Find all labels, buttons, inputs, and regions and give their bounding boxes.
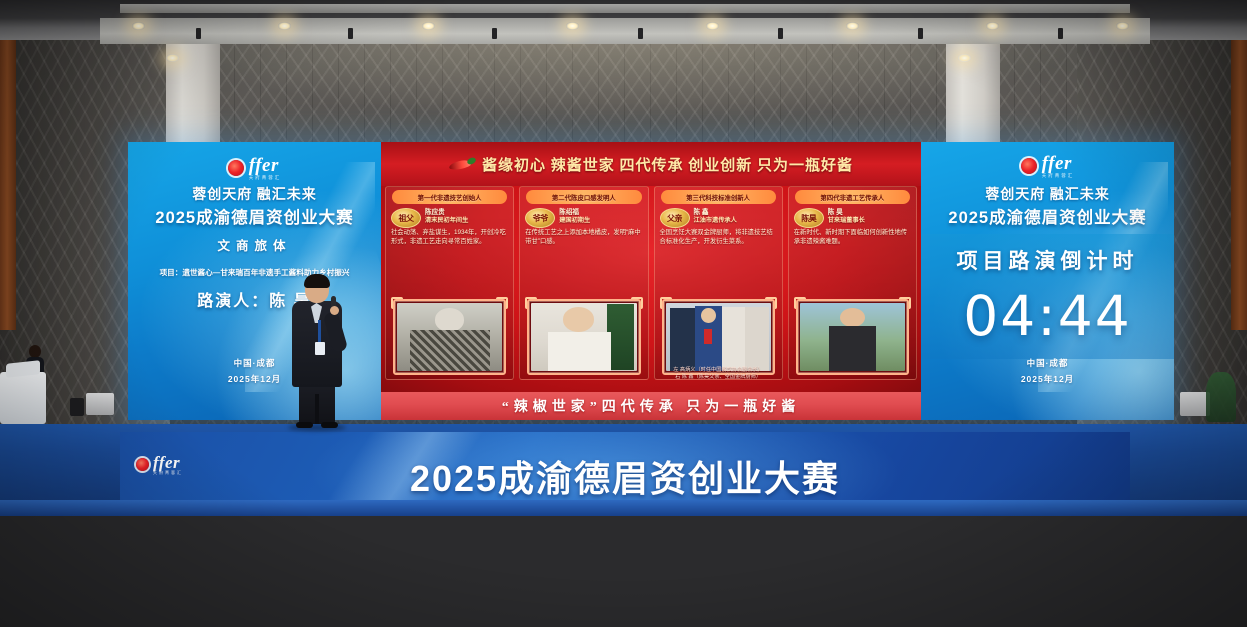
center-slide-header: 酱缘初心 辣酱世家 四代传承 创业创新 只为一瓶好酱 xyxy=(381,142,921,186)
downlight-icon xyxy=(422,22,435,30)
center-header-text: 酱缘初心 辣酱世家 四代传承 创业创新 只为一瓶好酱 xyxy=(482,154,853,175)
generation-column: 第四代非遗工艺传承人 陈昊 陈 昊 甘来瑞董事长 在新时代、新时期下面临如何创新… xyxy=(788,186,917,380)
event-slogan: 蓉创天府 融汇未来 xyxy=(921,184,1174,204)
generation-description: 在新时代、新时期下面临如何创新性地传承非遗辣酱难题。 xyxy=(789,228,916,246)
generation-person: 爷爷 陈绍福 建国初期生 xyxy=(520,206,647,228)
presenter-speaker xyxy=(288,276,346,428)
track-light-icon xyxy=(348,28,353,39)
logo-wordmark: ffer xyxy=(249,156,279,175)
generation-photo-frame xyxy=(393,299,506,375)
generation-column: 第一代非遗技艺创始人 祖父 陈应贵 清末民初年间生 社会动荡、弃盐谋生，1934… xyxy=(385,186,514,380)
event-logo: ffer 天府菁蓉汇 xyxy=(128,156,381,181)
track-light-icon xyxy=(492,28,497,39)
downlight-icon xyxy=(166,54,179,62)
center-slide-footer: “辣椒世家”四代传承 只为一瓶好酱 xyxy=(381,392,921,420)
downlight-icon xyxy=(986,22,999,30)
downlight-icon xyxy=(132,22,145,30)
track-light-icon xyxy=(638,28,643,39)
generation-header: 第四代非遗工艺传承人 xyxy=(795,190,910,204)
event-logo: ffer 天府菁蓉汇 xyxy=(921,154,1174,179)
generations-columns: 第一代非遗技艺创始人 祖父 陈应贵 清末民初年间生 社会动荡、弃盐谋生，1934… xyxy=(385,186,917,380)
generation-person: 祖父 陈应贵 清末民初年间生 xyxy=(386,206,513,228)
portrait-photo xyxy=(397,303,502,371)
generation-seal-badge: 父亲 xyxy=(660,208,690,228)
led-video-wall: ffer 天府菁蓉汇 蓉创天府 融汇未来 2025成渝德眉资创业大赛 文商旅体 … xyxy=(128,142,1174,420)
right-door-trim xyxy=(1231,0,1247,330)
generation-column: 第三代科技标准创新人 父亲 陈 鑫 江油市遗传承人 全国烹饪大赛双金牌厨师，将非… xyxy=(654,186,783,380)
generation-person: 陈昊 陈 昊 甘来瑞董事长 xyxy=(789,206,916,228)
track-light-icon xyxy=(918,28,923,39)
page-title: 2025成渝德眉资创业大赛 xyxy=(128,204,381,228)
group-photo xyxy=(666,303,771,371)
conference-hall-photo: ffer 天府菁蓉汇 蓉创天府 融汇未来 2025成渝德眉资创业大赛 文商旅体 … xyxy=(0,0,1247,627)
event-slogan: 蓉创天府 融汇未来 xyxy=(128,184,381,204)
generation-photo-frame xyxy=(527,299,640,375)
generation-photo-frame xyxy=(796,299,909,375)
generation-seal-badge: 陈昊 xyxy=(794,208,824,228)
category-label: 文商旅体 xyxy=(128,235,381,254)
countdown-label: 项目路演倒计时 xyxy=(921,245,1174,275)
portrait-photo xyxy=(531,303,636,371)
person-role: 江油市遗传承人 xyxy=(694,217,777,225)
page-title: 2025成渝德眉资创业大赛 xyxy=(921,204,1174,228)
generation-header: 第三代科技标准创新人 xyxy=(661,190,776,204)
ceiling-light-strip xyxy=(120,4,1130,13)
generation-photo-frame xyxy=(662,299,775,375)
generation-seal-badge: 祖父 xyxy=(391,208,421,228)
stage-monitor-speaker xyxy=(86,393,114,415)
generation-seal-badge: 爷爷 xyxy=(525,208,555,228)
downlight-icon xyxy=(958,54,971,62)
generation-header: 第二代陈皮口感发明人 xyxy=(526,190,641,204)
countdown-timer: 04:44 xyxy=(921,284,1174,348)
downlight-icon xyxy=(846,22,859,30)
logo-wordmark: ffer xyxy=(1042,154,1072,173)
track-light-icon xyxy=(1058,28,1063,39)
generation-person: 父亲 陈 鑫 江油市遗传承人 xyxy=(655,206,782,228)
event-location: 中国·成都 xyxy=(921,357,1174,369)
downlight-icon xyxy=(1116,22,1129,30)
generation-description: 社会动荡、弃盐谋生，1934年，开创冷吃形式，非遗工艺走向寻常百姓家。 xyxy=(386,228,513,246)
downlight-icon xyxy=(706,22,719,30)
track-light-icon xyxy=(196,28,201,39)
person-name: 陈绍福 xyxy=(559,209,642,217)
center-footer-text: “辣椒世家”四代传承 只为一瓶好酱 xyxy=(502,396,801,416)
audience-area: SAPIENCE xyxy=(0,430,1247,627)
event-date: 2025年12月 xyxy=(921,373,1174,385)
person-role: 甘来瑞董事长 xyxy=(828,217,911,225)
person-role: 清末民初年间生 xyxy=(425,217,508,225)
potted-plant xyxy=(1206,372,1236,422)
left-door-trim xyxy=(0,0,16,330)
stage-equipment-case xyxy=(70,398,84,416)
generation-header: 第一代非遗技艺创始人 xyxy=(392,190,507,204)
podium xyxy=(0,372,46,424)
generation-description: 在传统工艺之上添加本地橘皮，发明“麻中带甘”口感。 xyxy=(520,228,647,246)
photo-caption-line: 右 陈 鑫（陈昊父亲、全国金牌厨师） xyxy=(654,374,783,381)
person-name: 陈应贵 xyxy=(425,209,508,217)
person-role: 建国初期生 xyxy=(559,217,642,225)
right-led-panel: ffer 天府菁蓉汇 蓉创天府 融汇未来 2025成渝德眉资创业大赛 项目路演倒… xyxy=(921,142,1174,420)
downlight-icon xyxy=(278,22,291,30)
downlight-icon xyxy=(566,22,579,30)
person-name: 陈 鑫 xyxy=(694,209,777,217)
chili-pepper-icon xyxy=(449,158,475,170)
center-led-panel: 酱缘初心 辣酱世家 四代传承 创业创新 只为一瓶好酱 第一代非遗技艺创始人 祖父… xyxy=(381,142,921,420)
track-light-icon xyxy=(778,28,783,39)
logo-dot-icon xyxy=(228,160,244,176)
generation-column: 第二代陈皮口感发明人 爷爷 陈绍福 建国初期生 在传统工艺之上添加本地橘皮，发明… xyxy=(519,186,648,380)
name-badge xyxy=(315,342,325,355)
generation-description: 全国烹饪大赛双金牌厨师，将非遗技艺结合标准化生产，开发衍生菜系。 xyxy=(655,228,782,246)
logo-subtext: 天府菁蓉汇 xyxy=(1042,174,1075,179)
logo-subtext: 天府菁蓉汇 xyxy=(249,176,282,181)
portrait-photo xyxy=(800,303,905,371)
person-name: 陈 昊 xyxy=(828,209,911,217)
logo-dot-icon xyxy=(1021,158,1037,174)
